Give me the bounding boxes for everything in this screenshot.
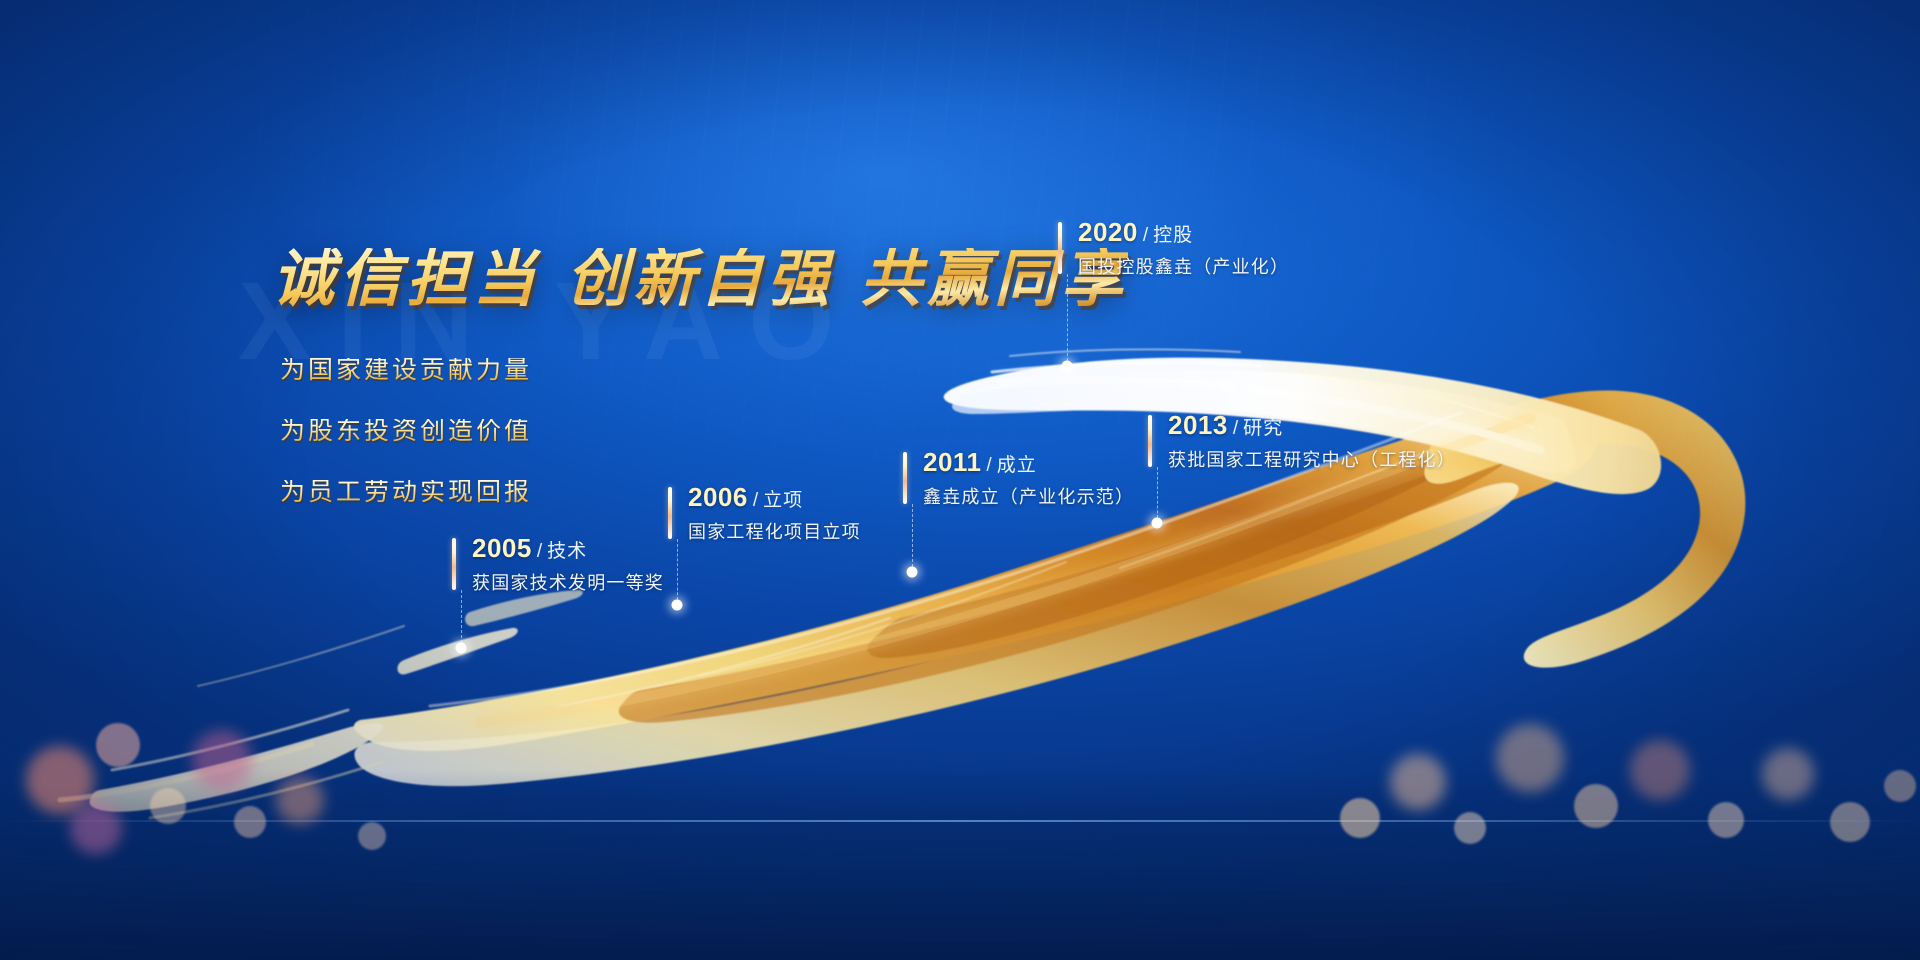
bokeh-light (358, 822, 386, 850)
timeline-marker-bar (1148, 415, 1152, 467)
timeline-separator: / (537, 541, 542, 562)
timeline-year: 2013 (1168, 410, 1228, 440)
timeline-leader-line (1067, 274, 1068, 366)
bokeh-light (1708, 802, 1744, 838)
timeline-tag: 研究 (1243, 418, 1283, 439)
timeline-node-dot[interactable] (1062, 361, 1073, 372)
timeline-description: 鑫垚成立（产业化示范） (923, 488, 1134, 506)
page-title: 诚信担当创新自强共赢同享 (272, 248, 1128, 310)
bokeh-light (276, 776, 324, 824)
timeline-node-dot[interactable] (456, 643, 467, 654)
timeline-separator: / (1233, 418, 1238, 439)
timeline-node-dot[interactable] (1152, 518, 1163, 529)
bokeh-light (1454, 812, 1486, 844)
slogan-list: 为国家建设贡献力量为股东投资创造价值为员工劳动实现回报 (280, 358, 532, 541)
bokeh-light (1884, 770, 1916, 802)
timeline-leader-line (912, 504, 913, 572)
timeline-tag: 控股 (1153, 225, 1193, 246)
timeline-marker-bar (1058, 222, 1062, 274)
timeline-description: 国家工程化项目立项 (688, 523, 861, 541)
slogan-line: 为国家建设贡献力量 (280, 358, 532, 383)
bokeh-light (96, 723, 140, 767)
timeline-tag: 技术 (547, 541, 587, 562)
timeline-leader-line (677, 539, 678, 605)
bokeh-light (150, 788, 186, 824)
bokeh-light (1574, 784, 1618, 828)
timeline-node-dot[interactable] (907, 567, 918, 578)
timeline-description: 获国家技术发明一等奖 (472, 574, 664, 592)
timeline-heading: 2013/研究 (1168, 412, 1456, 438)
title-part-2: 创新自强 (566, 242, 834, 315)
timeline-year: 2005 (472, 533, 532, 563)
bokeh-light (70, 802, 122, 854)
timeline-year: 2006 (688, 482, 748, 512)
slogan-line: 为员工劳动实现回报 (280, 480, 532, 505)
timeline-heading: 2020/控股 (1078, 219, 1289, 245)
timeline-text-block: 2013/研究获批国家工程研究中心（工程化） (1168, 412, 1456, 469)
title-part-1: 诚信担当 (272, 242, 540, 315)
timeline-year: 2020 (1078, 217, 1138, 247)
timeline-description: 获批国家工程研究中心（工程化） (1168, 451, 1456, 469)
timeline-heading: 2011/成立 (923, 449, 1134, 475)
bokeh-light (1762, 748, 1814, 800)
timeline-leader-line (1157, 467, 1158, 523)
slogan-line: 为股东投资创造价值 (280, 419, 532, 444)
timeline-text-block: 2006/立项国家工程化项目立项 (688, 484, 861, 541)
timeline-text-block: 2011/成立鑫垚成立（产业化示范） (923, 449, 1134, 506)
timeline-separator: / (986, 455, 991, 476)
timeline-text-block: 2020/控股国投控股鑫垚（产业化） (1078, 219, 1289, 276)
timeline-separator: / (1143, 225, 1148, 246)
timeline-heading: 2005/技术 (472, 535, 664, 561)
bokeh-light (192, 730, 252, 790)
bokeh-light (1830, 802, 1870, 842)
timeline-node-dot[interactable] (672, 600, 683, 611)
timeline-text-block: 2005/技术获国家技术发明一等奖 (472, 535, 664, 592)
bokeh-light (1630, 740, 1690, 800)
bokeh-light (234, 806, 266, 838)
timeline-heading: 2006/立项 (688, 484, 861, 510)
timeline-separator: / (753, 490, 758, 511)
bokeh-light (1390, 754, 1446, 810)
banner-stage: XIN YAO (0, 0, 1920, 960)
timeline-year: 2011 (923, 447, 981, 477)
timeline-tag: 成立 (997, 455, 1037, 476)
timeline-marker-bar (452, 538, 456, 590)
timeline-marker-bar (903, 452, 907, 504)
timeline-leader-line (461, 590, 462, 648)
timeline-description: 国投控股鑫垚（产业化） (1078, 258, 1289, 276)
timeline-tag: 立项 (763, 490, 803, 511)
bokeh-light (1496, 724, 1564, 792)
bokeh-light (1340, 798, 1380, 838)
timeline-marker-bar (668, 487, 672, 539)
